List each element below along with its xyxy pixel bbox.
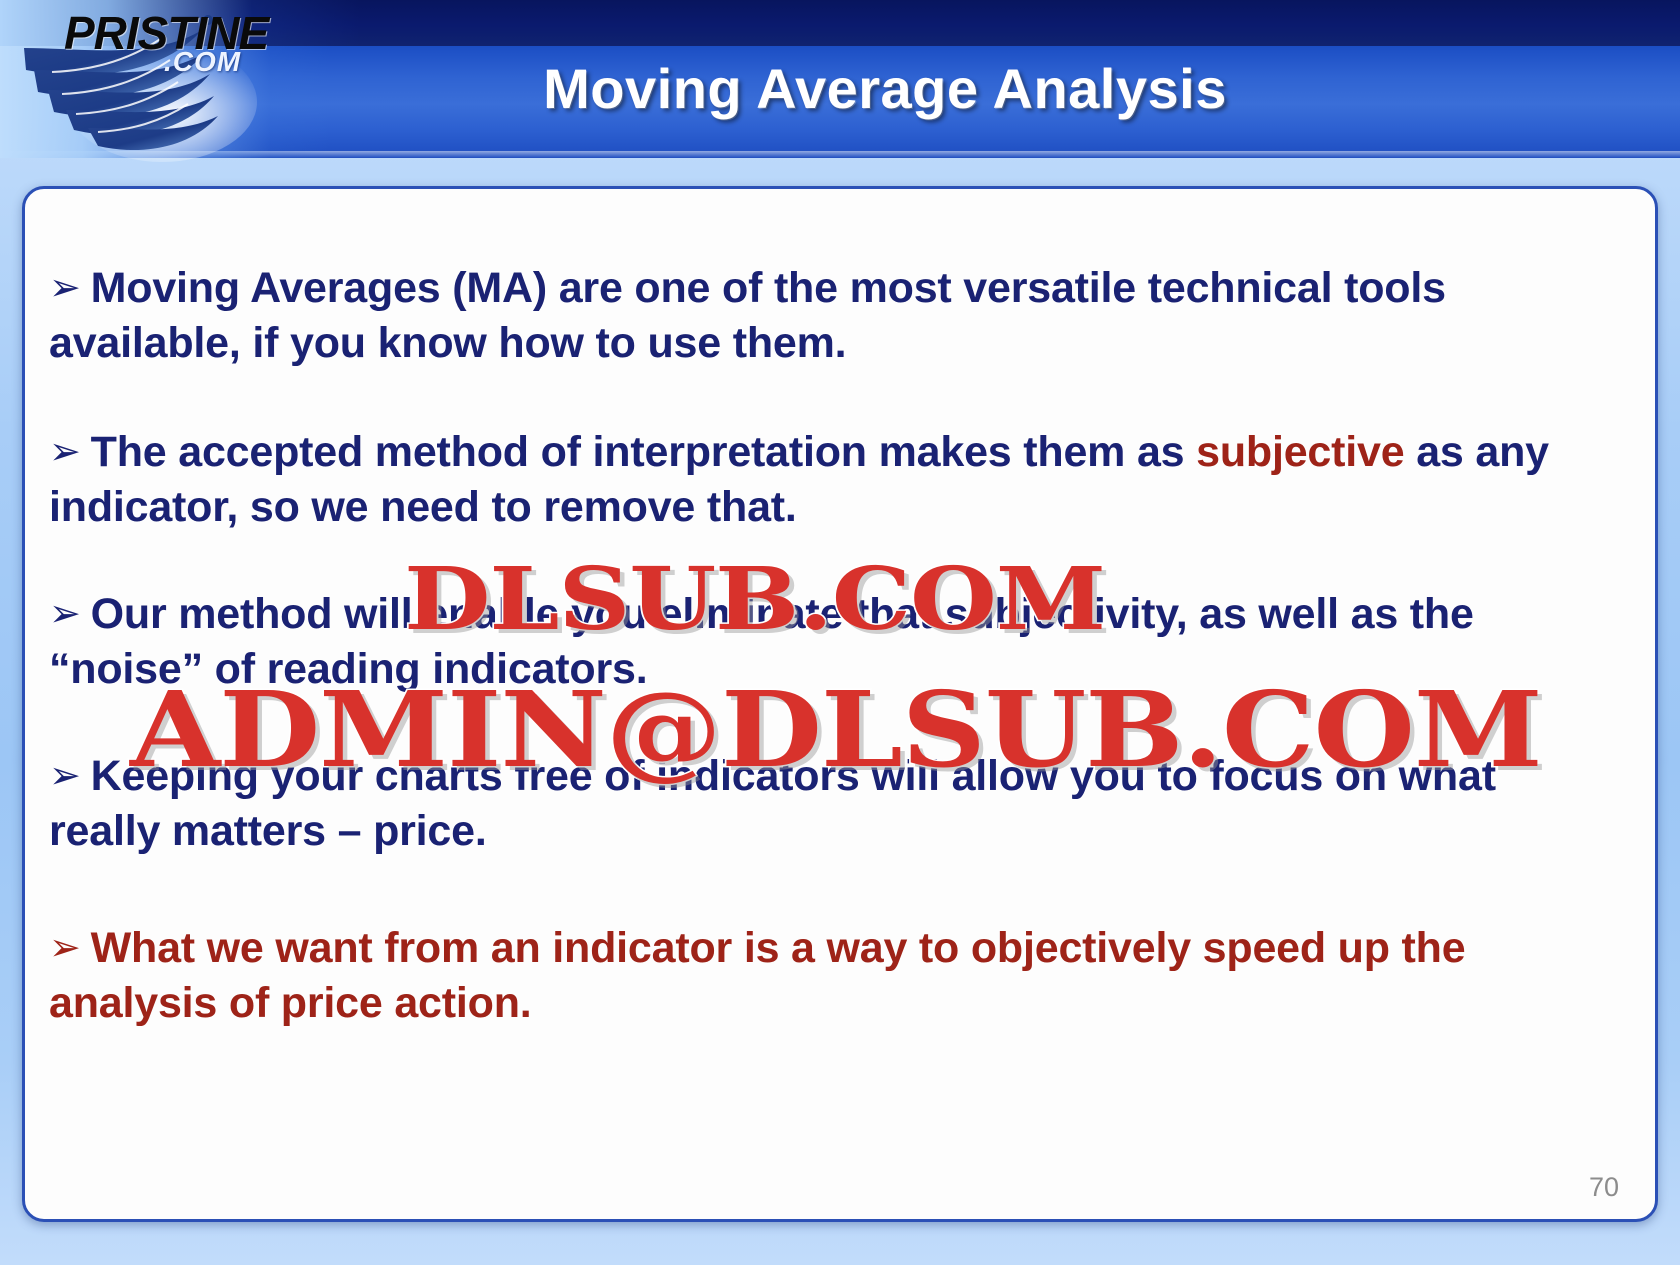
bullet-item-4: ➢Keeping your charts free of indicators … [49, 749, 1609, 859]
bullet-arrow-icon: ➢ [49, 924, 81, 973]
bullet-arrow-icon: ➢ [49, 752, 81, 801]
bullet-item-3: ➢Our method will enable you eliminate th… [49, 587, 1609, 697]
bullet-arrow-icon: ➢ [49, 428, 81, 477]
bullet-4-text: Keeping your charts free of indicators w… [49, 752, 1496, 855]
brand-suffix: .COM [164, 46, 241, 78]
bullet-item-2: ➢The accepted method of interpretation m… [49, 425, 1609, 535]
page-number: 70 [1589, 1172, 1619, 1203]
bullet-arrow-icon: ➢ [49, 264, 81, 313]
bullet-2-text-before: The accepted method of interpretation ma… [91, 428, 1196, 476]
brand-logo: PRISTINE .COM [12, 2, 342, 162]
bullet-5-text: What we want from an indicator is a way … [49, 924, 1465, 1027]
bullet-list: ➢Moving Averages (MA) are one of the mos… [49, 261, 1609, 1077]
presentation-slide: Moving Average Analysis [0, 0, 1680, 1265]
content-panel: ➢Moving Averages (MA) are one of the mos… [22, 186, 1658, 1222]
bullet-3-text: Our method will enable you eliminate tha… [49, 590, 1474, 693]
bullet-item-5: ➢What we want from an indicator is a way… [49, 921, 1609, 1031]
bullet-item-1: ➢Moving Averages (MA) are one of the mos… [49, 261, 1609, 371]
bullet-arrow-icon: ➢ [49, 590, 81, 639]
bullet-1-text: Moving Averages (MA) are one of the most… [49, 264, 1446, 367]
bullet-2-highlight: subjective [1196, 428, 1404, 476]
